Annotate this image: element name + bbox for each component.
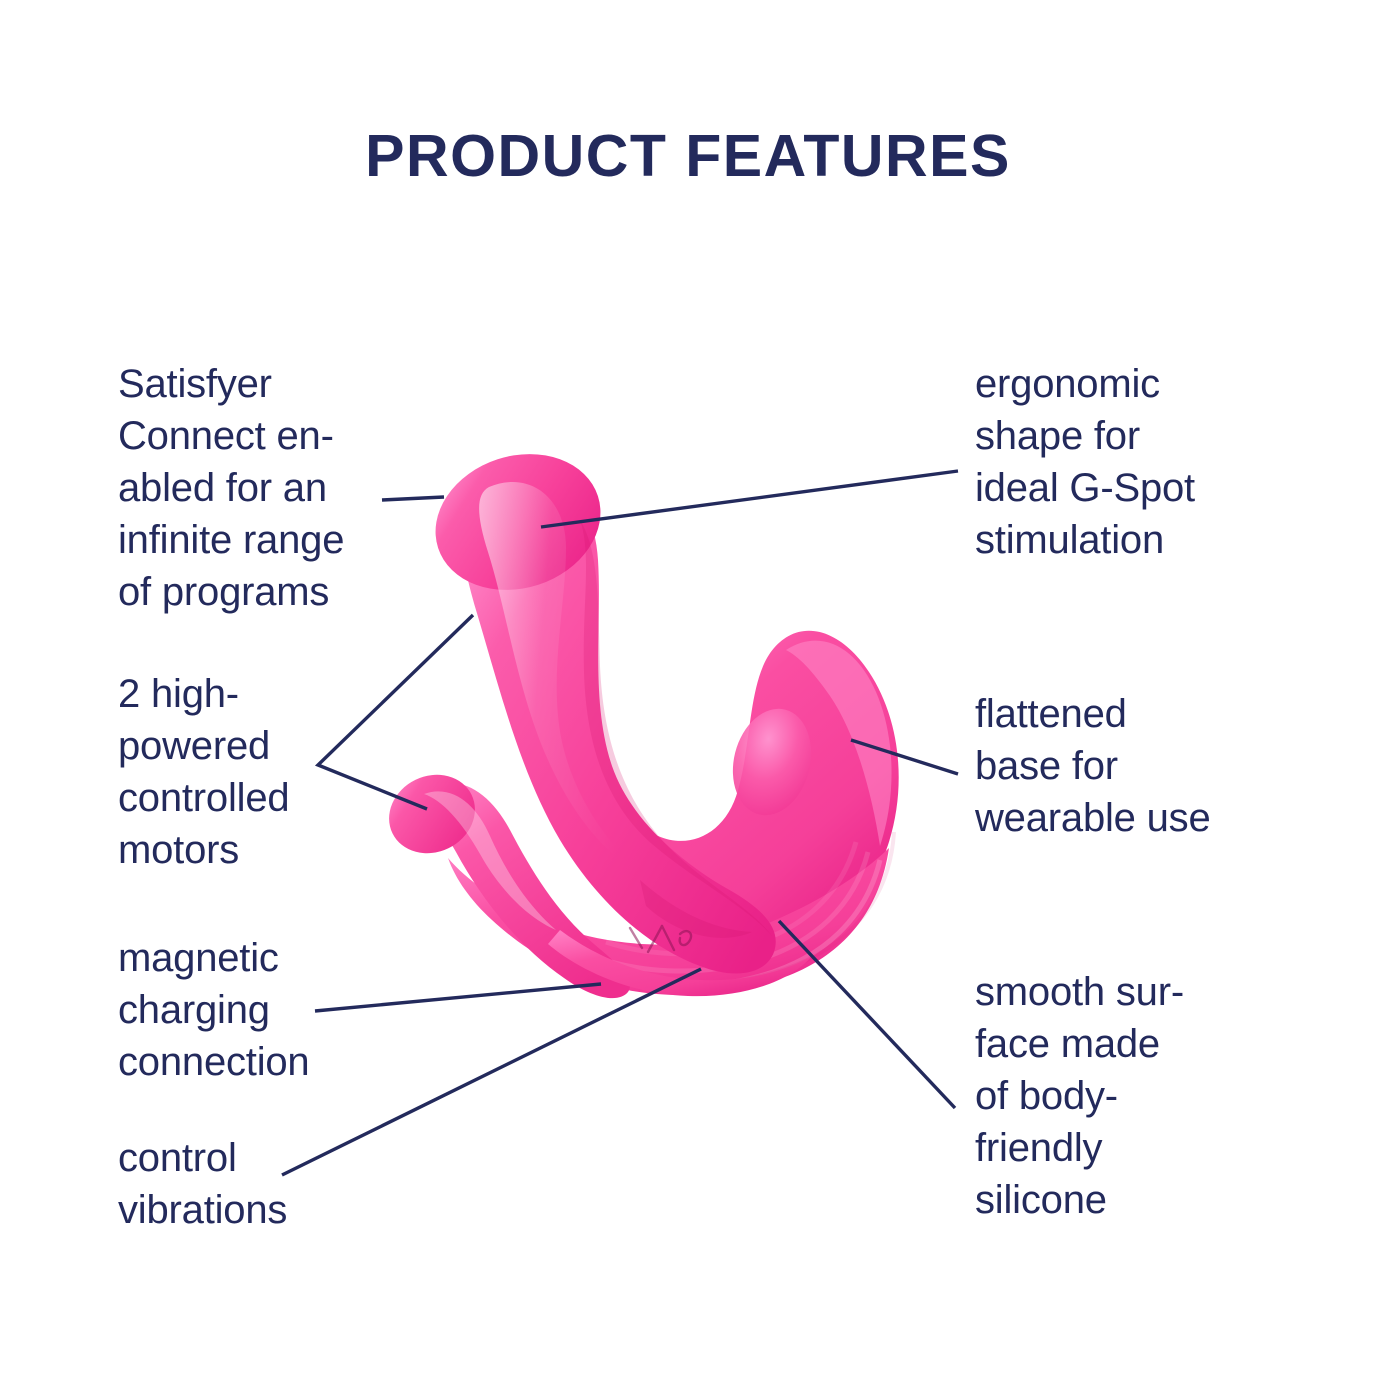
product-main-arm-shade <box>580 520 772 936</box>
callout-flattened-base: flattened base for wearable use <box>975 688 1285 844</box>
callout-satisfyer-connect: Satisfyer Connect en- abled for an infin… <box>118 358 418 618</box>
page-title: PRODUCT FEATURES <box>0 126 1376 188</box>
product-little-arm <box>425 783 630 998</box>
product-little-arm-sheen <box>424 791 556 930</box>
callout-control-vibrations: control vibrations <box>118 1132 418 1236</box>
product-base-ridge <box>786 641 892 846</box>
product-inner-shadow <box>640 880 752 938</box>
product-base-ribs <box>590 832 894 986</box>
leader-line-flattened <box>851 740 958 774</box>
product-base-sweep <box>448 848 889 995</box>
product-brand-mark <box>630 926 691 952</box>
leader-line-smooth <box>779 921 955 1108</box>
product-main-arm <box>461 466 776 973</box>
product-main-arm-tip <box>418 433 619 610</box>
leader-line-ergonomic <box>541 471 958 527</box>
product-main-arm-sheen <box>479 482 640 872</box>
product-features-infographic: PRODUCT FEATURES <box>0 0 1376 1376</box>
callout-ergonomic-shape: ergonomic shape for ideal G-Spot stimula… <box>975 358 1275 566</box>
product-flattened-base <box>628 631 899 928</box>
callout-magnetic-charging: magnetic charging connection <box>118 932 418 1088</box>
product-bridge <box>548 930 812 996</box>
callout-smooth-surface: smooth sur- face made of body- friendly … <box>975 966 1275 1226</box>
callout-high-powered-motors: 2 high- powered controlled motors <box>118 668 418 876</box>
product-inner-knob <box>722 700 822 823</box>
product-graphic <box>376 433 899 998</box>
